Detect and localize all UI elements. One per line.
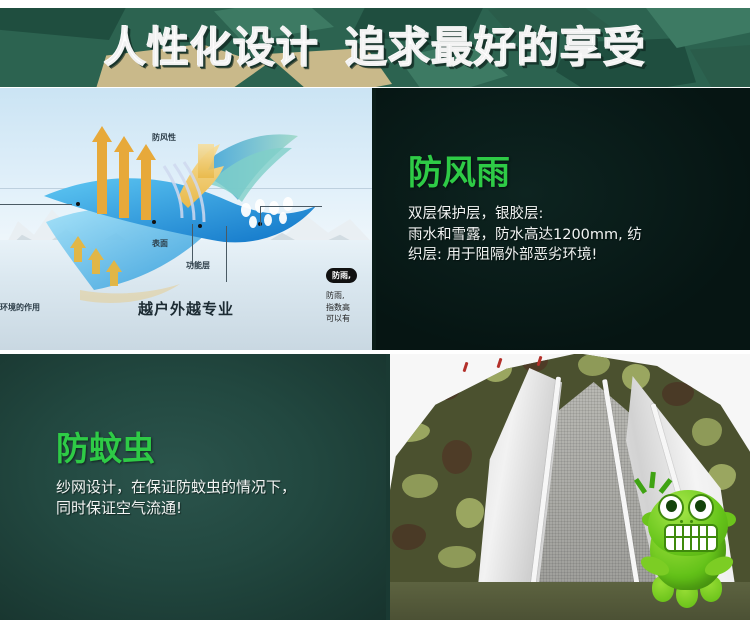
label-functional-layer: 功能层 [186, 260, 210, 271]
leader-line-left [0, 204, 72, 205]
mosquito-body: 纱网设计，在保证防蚊虫的情况下， 同时保证空气流通! [56, 477, 296, 520]
windproof-body: 双层保护层，银胶层: 雨水和雪露，防水高达1200mm, 纺 织层: 用于阻隔外… [408, 204, 642, 266]
anger-mark-1 [634, 478, 647, 494]
leader-line-right-h [260, 206, 322, 207]
diagram-slogan: 越户外越专业 [0, 298, 372, 319]
leader-dot-functional [198, 224, 202, 228]
banner-title-right: 追求最好的享受 [345, 27, 646, 69]
label-windproof: 防风性 [152, 132, 176, 143]
mosquito-proof-feature: 防蚊虫 纱网设计，在保证防蚊虫的情况下， 同时保证空气流通! [0, 354, 386, 620]
leader-line-functional [226, 226, 227, 282]
header-banner: 人性化设计 追求最好的享受 [0, 8, 750, 87]
tent-image [390, 354, 750, 620]
tent-peg-2 [497, 358, 503, 368]
leader-dot-surface [152, 220, 156, 224]
mascot-mouth [664, 524, 718, 552]
mascot-eye-right [688, 494, 714, 521]
mascot-nostril-left [680, 520, 683, 523]
banner-title-left: 人性化设计 [104, 27, 319, 69]
fabric-technology-diagram: 表面 功能层 防风性 环境的作用 防雨, 防雨, 指数高 可以有 越户外越专业 [0, 88, 372, 350]
panel-divider-bottom [386, 354, 390, 620]
banner-title-group: 人性化设计 追求最好的享受 [0, 8, 750, 87]
label-rainproof-chip: 防雨, [326, 268, 357, 283]
tent-peg-1 [463, 362, 469, 372]
fabric-layer-illustration [40, 114, 340, 304]
product-detail-page: 人性化设计 追求最好的享受 [0, 0, 750, 620]
mascot-nostril-right [690, 520, 693, 523]
windproof-rainproof-feature: 防风雨 双层保护层，银胶层: 雨水和雪露，防水高达1200mm, 纺 织层: 用… [376, 88, 750, 350]
mosquito-title: 防蚊虫 [56, 432, 296, 465]
leader-dot-left [76, 202, 80, 206]
label-surface: 表面 [152, 238, 168, 249]
panel-divider-vertical [372, 88, 376, 350]
green-mosquito-mascot [636, 472, 740, 612]
mascot-eye-left [658, 494, 684, 521]
anger-mark-3 [659, 478, 673, 494]
camouflage-tent-photo [390, 354, 750, 620]
anger-mark-2 [649, 472, 656, 488]
windproof-title: 防风雨 [408, 156, 642, 190]
leader-line-right [260, 206, 261, 226]
